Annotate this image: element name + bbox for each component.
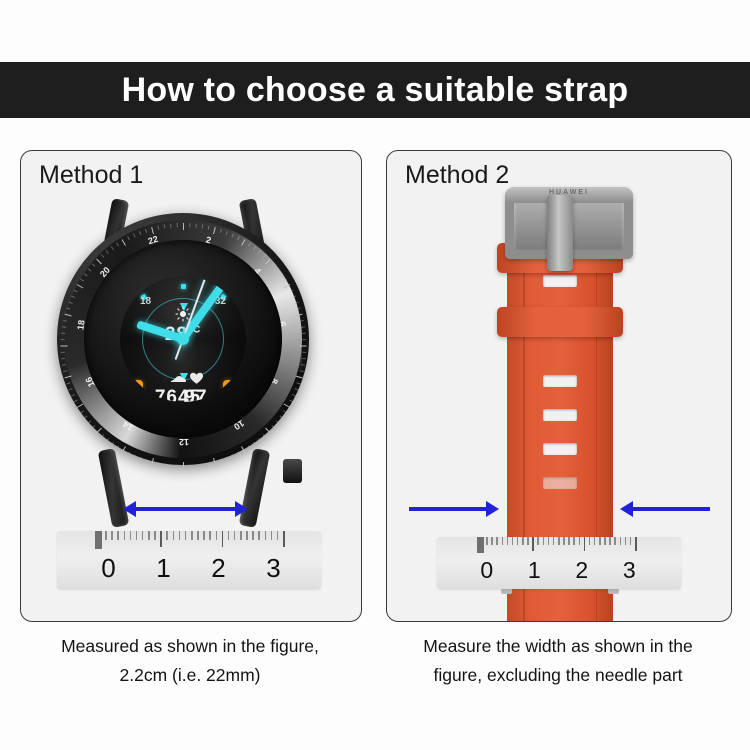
bezel-tick (84, 416, 88, 419)
method-1-caption: Measured as shown in the figure, 2.2cm (… (20, 632, 360, 690)
bezel-tick (226, 231, 228, 235)
hour-marker (181, 284, 186, 289)
ruler-tick (532, 537, 534, 551)
bezel-tick (65, 376, 72, 379)
bezel-tick (202, 224, 204, 228)
ruler-tick (609, 537, 611, 545)
ruler-tick (179, 531, 181, 540)
bezel-tick (66, 308, 70, 310)
bezel-tick (164, 463, 166, 467)
ruler-tick (271, 531, 273, 540)
bezel-tick (74, 290, 78, 293)
ruler-tick (486, 537, 488, 545)
ruler-tick (185, 531, 187, 540)
method-2-panel: Method 2 HUAWEI (386, 150, 732, 622)
bezel-tick (213, 227, 216, 234)
bezel-tick (231, 455, 234, 459)
bezel-tick (237, 452, 240, 456)
bezel-tick (133, 233, 136, 237)
buckle-brand-text: HUAWEI (514, 189, 624, 196)
bezel-tick (80, 410, 84, 413)
bezel-tick (127, 452, 130, 456)
ruler-tick (252, 531, 254, 540)
caption-line-1: Measured as shown in the figure, (61, 636, 319, 656)
bezel-tick (177, 223, 178, 227)
strap-illustration: HUAWEI 0123 (387, 151, 731, 621)
arrow-shaft-right (632, 507, 710, 511)
bezel-tick (101, 434, 104, 438)
bezel-tick (122, 239, 126, 246)
header-bar: How to choose a suitable strap (0, 62, 750, 118)
bezel-tick (111, 442, 114, 446)
ruler-tick (625, 537, 627, 545)
arrowhead-right-icon (486, 501, 499, 517)
bezel-tick (276, 421, 280, 424)
bezel-tick (279, 273, 283, 276)
ruler-tick (166, 531, 168, 540)
bezel-tick (202, 463, 204, 467)
arrowhead-right-icon (235, 501, 248, 517)
bezel-tick (295, 376, 302, 379)
bezel-tick (292, 296, 296, 299)
ruler-tick (594, 537, 596, 545)
bezel-tick (84, 273, 88, 276)
arrow-shaft-left (409, 507, 487, 511)
ruler-tick (283, 531, 285, 547)
ruler-zero-block (477, 537, 484, 553)
bezel-tick (272, 425, 276, 428)
method-1-panel: Method 1 246810121416182022 (20, 150, 362, 622)
bezel-tick (77, 404, 84, 408)
bezel-tick (301, 326, 305, 328)
bezel-tick (92, 263, 96, 266)
ruler-number: 1 (136, 553, 191, 584)
strap-hole (543, 477, 577, 489)
strap-hole (543, 409, 577, 421)
ruler-tick (496, 537, 498, 545)
bezel-tick (302, 339, 306, 340)
bezel-tick (106, 250, 109, 254)
ruler-tick (191, 531, 193, 540)
ruler-tick (148, 531, 150, 540)
ruler-tick (563, 537, 565, 545)
ruler-tick (130, 531, 132, 540)
ruler-tick (277, 531, 279, 540)
ruler-tick (240, 531, 242, 540)
bezel-tick (253, 442, 256, 446)
bezel-tick (151, 227, 154, 234)
bezel-tick (61, 358, 65, 359)
bezel-tick (208, 462, 210, 466)
dial-heart-rate-complication: 97 (150, 372, 242, 402)
ruler-tick (136, 531, 138, 540)
bezel-tick (122, 446, 126, 453)
ruler-tick (234, 531, 236, 540)
caption-line-1: Measure the width as shown in the (423, 636, 692, 656)
bezel-tick (220, 459, 222, 463)
ruler-tick (599, 537, 601, 545)
bezel-tick (88, 268, 92, 271)
bezel-tick (294, 301, 298, 303)
ruler-tick (258, 531, 260, 540)
bezel-tick (263, 254, 266, 258)
bezel-tick (164, 224, 166, 228)
bezel-tick (241, 446, 245, 453)
bezel-tick (189, 223, 190, 227)
ruler-tick (543, 537, 545, 545)
bezel-tick (248, 243, 251, 247)
ruler-tick (197, 531, 199, 540)
bezel-tick (61, 339, 65, 340)
ruler-2-ticks (437, 537, 681, 557)
ruler-method-2: 0123 (437, 537, 681, 589)
method-1-label: Method 1 (39, 161, 143, 190)
bezel-tick (189, 465, 190, 469)
ruler-tick (512, 537, 514, 545)
bezel-tick (300, 370, 304, 372)
bezel-tick (139, 457, 141, 461)
ruler-tick (568, 537, 570, 545)
ruler-number: 3 (246, 553, 301, 584)
poster-canvas: How to choose a suitable strap Method 1 … (0, 0, 750, 750)
watch-illustration: 246810121416182022 18 32 ▼ ▼ (21, 151, 361, 621)
ruler-tick (589, 537, 591, 545)
bezel-tick (258, 250, 261, 254)
watch-bezel: 246810121416182022 18 32 ▼ ▼ (64, 220, 302, 458)
bezel-tick (253, 246, 256, 250)
bezel-tick (292, 394, 296, 397)
bezel-tick (66, 382, 70, 384)
bezel-tick (61, 352, 65, 353)
ruler-tick (604, 537, 606, 545)
ruler-number: 1 (511, 557, 559, 584)
caption-line-2: 2.2cm (i.e. 22mm) (20, 661, 360, 690)
bezel-tick (62, 364, 66, 366)
bezel-tick (68, 301, 72, 303)
ruler-tick (573, 537, 575, 545)
bezel-tick (62, 326, 66, 328)
ruler-tick (527, 537, 529, 545)
ruler-tick (517, 537, 519, 545)
bezel-tick (265, 428, 271, 434)
page-title: How to choose a suitable strap (122, 71, 629, 110)
bezel-tick (258, 438, 261, 442)
ruler-1-ticks (57, 531, 321, 551)
bezel-tick (71, 394, 75, 397)
ruler-tick (548, 537, 550, 545)
ruler-zero-block (95, 531, 102, 549)
bezel-tick (77, 284, 84, 288)
bezel-tick (65, 314, 72, 317)
ruler-number: 2 (191, 553, 246, 584)
bezel-tick (80, 279, 84, 282)
bezel-number: 12 (179, 437, 189, 447)
ruler-2-numbers: 0123 (463, 557, 653, 584)
bezel-tick (170, 224, 171, 228)
bezel-tick (300, 320, 304, 322)
bezel-tick (61, 346, 68, 347)
ruler-tick (111, 531, 113, 540)
arrow-shaft (134, 507, 237, 511)
ruler-tick (216, 531, 218, 540)
bezel-tick (68, 388, 72, 390)
ruler-tick (522, 537, 524, 545)
bezel-tick (183, 462, 184, 469)
ruler-tick (209, 531, 211, 540)
dial-center-pin (177, 333, 189, 345)
bezel-tick (88, 421, 92, 424)
bezel-tick (248, 446, 251, 450)
bezel-tick (213, 458, 216, 465)
ruler-tick (558, 537, 560, 545)
ruler-tick (537, 537, 539, 545)
bezel-tick (74, 400, 78, 403)
ruler-number: 2 (558, 557, 606, 584)
bezel-tick (133, 455, 136, 459)
bezel-tick (127, 236, 130, 240)
bezel-tick (195, 224, 196, 228)
ruler-tick (142, 531, 144, 540)
ruler-tick (222, 531, 224, 547)
ruler-tick (553, 537, 555, 545)
ruler-tick (173, 531, 175, 540)
bezel-tick (300, 346, 307, 347)
ruler-number: 3 (606, 557, 654, 584)
bezel-tick (61, 333, 65, 334)
strap-keeper-lower (497, 307, 623, 337)
bezel-tick (241, 239, 245, 246)
bezel-tick (63, 320, 67, 322)
ruler-tick (491, 537, 493, 545)
bezel-tick (106, 438, 109, 442)
ruler-tick (160, 531, 162, 547)
bezel-tick (297, 308, 301, 310)
ruler-tick (246, 531, 248, 540)
bezel-tick (231, 233, 234, 237)
bezel-tick (208, 226, 210, 230)
ruler-tick (265, 531, 267, 540)
strap-hole (543, 275, 577, 287)
bezel-tick (272, 263, 276, 266)
ruler-tick (117, 531, 119, 540)
bezel-tick (151, 458, 154, 465)
bezel-tick (139, 231, 141, 235)
strap-hole (543, 375, 577, 387)
method-2-label: Method 2 (405, 161, 509, 190)
bezel-tick (116, 446, 119, 450)
ruler-tick (124, 531, 126, 540)
bezel-tick (116, 243, 119, 247)
ruler-tick (507, 537, 509, 545)
heart-rate-value: 97 (184, 387, 207, 402)
ruler-tick (579, 537, 581, 545)
watch-dial: 18 32 ▼ ▼ (120, 276, 246, 402)
ruler-tick (502, 537, 504, 545)
bezel-tick (226, 457, 228, 461)
ruler-tick (228, 531, 230, 540)
bezel-tick (283, 410, 287, 413)
ruler-number: 0 (81, 553, 136, 584)
caption-line-2: figure, excluding the needle part (386, 661, 730, 690)
bezel-tick (279, 416, 283, 419)
watch-crown-lower (283, 459, 302, 483)
ruler-tick (105, 531, 107, 540)
watch-bezel-inner: 18 32 ▼ ▼ (84, 240, 282, 438)
bezel-tick (183, 223, 184, 230)
bezel-tick (101, 254, 104, 258)
bezel-tick (96, 259, 102, 265)
bezel-tick (302, 352, 306, 353)
bezel-tick (289, 290, 293, 293)
ruler-method-1: 0123 (57, 531, 321, 589)
bezel-tick (295, 314, 302, 317)
bezel-tick (170, 464, 171, 468)
bezel-tick (302, 333, 306, 334)
method-2-caption: Measure the width as shown in the figure… (386, 632, 730, 690)
dial-inner-number-left: 18 (140, 296, 151, 307)
bezel-tick (297, 382, 301, 384)
ruler-tick (630, 537, 632, 545)
ruler-tick (203, 531, 205, 540)
bezel-tick (71, 296, 75, 299)
bezel-tick (263, 434, 266, 438)
bezel-tick (63, 370, 67, 372)
bezel-tick (145, 229, 147, 233)
bezel-tick (284, 404, 291, 408)
bezel-tick (177, 465, 178, 469)
ruler-number: 0 (463, 557, 511, 584)
bezel-tick (195, 464, 196, 468)
bezel-tick (284, 284, 291, 288)
strap-hole (543, 443, 577, 455)
bezel-tick (289, 400, 293, 403)
bezel-tick (283, 279, 287, 282)
heart-icon (188, 372, 205, 385)
ruler-tick (584, 537, 586, 551)
bezel-tick (294, 388, 298, 390)
bezel-tick (220, 229, 222, 233)
bezel-tick (302, 358, 306, 359)
ruler-tick (620, 537, 622, 545)
bezel-tick (92, 425, 96, 428)
bezel-tick (157, 226, 159, 230)
bezel-tick (145, 459, 147, 463)
ruler-tick (635, 537, 637, 551)
bezel-tick (111, 246, 114, 250)
buckle-tongue (547, 195, 573, 271)
ruler-1-numbers: 0123 (81, 553, 301, 584)
ruler-tick (614, 537, 616, 545)
bezel-tick (265, 259, 271, 265)
bezel-tick (237, 236, 240, 240)
ruler-tick (154, 531, 156, 540)
bezel-tick (157, 462, 159, 466)
watch-case: 246810121416182022 18 32 ▼ ▼ (57, 213, 309, 465)
bezel-tick (96, 428, 102, 434)
bezel-tick (276, 268, 280, 271)
